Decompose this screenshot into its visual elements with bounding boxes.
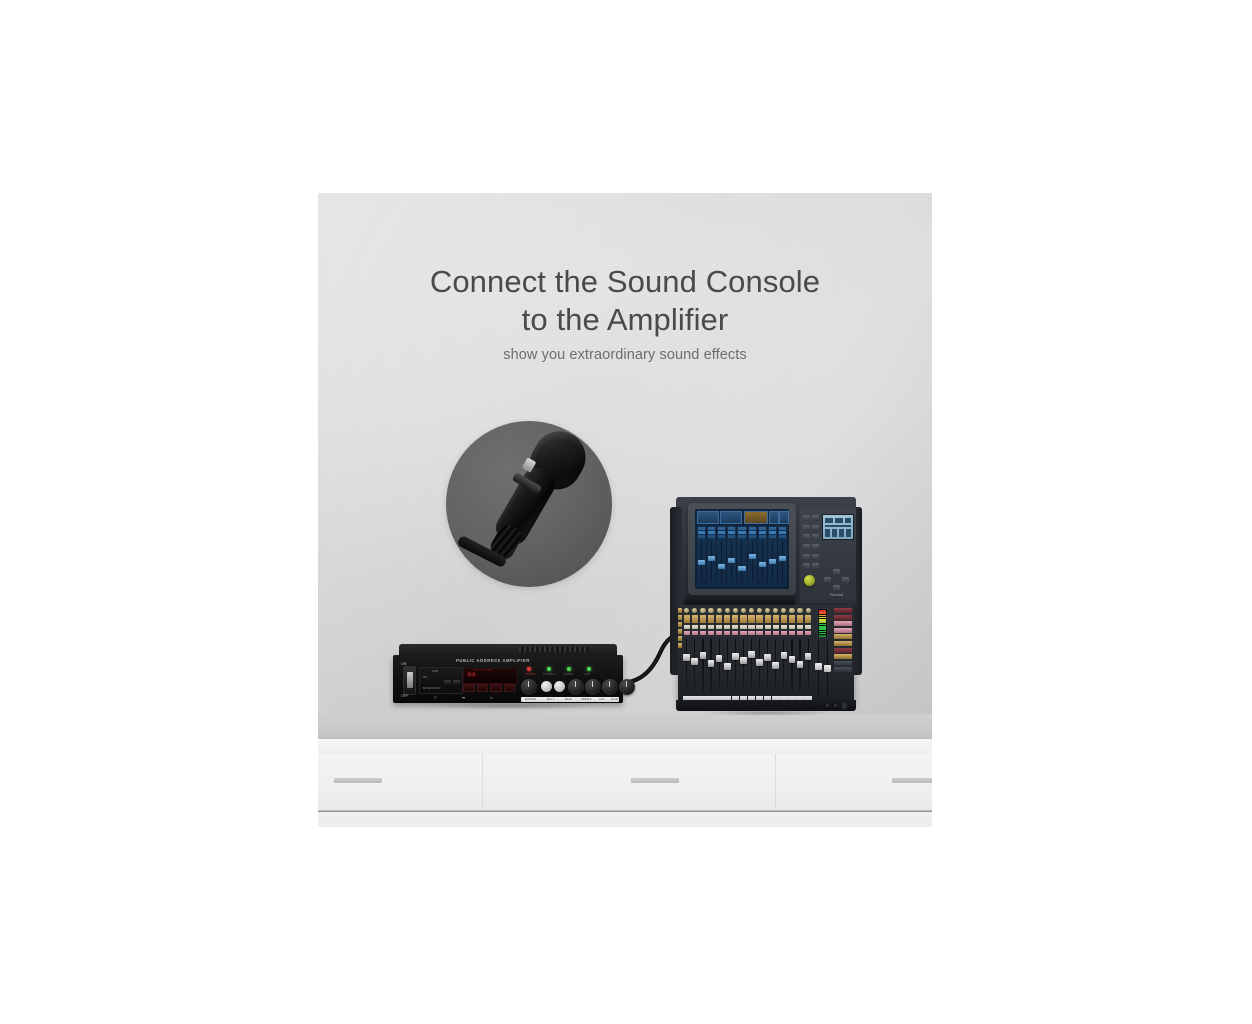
function-button[interactable] (812, 563, 819, 569)
mute-button[interactable] (708, 625, 714, 630)
usb-icon: ⬌ (459, 695, 468, 702)
solo-button[interactable] (684, 631, 690, 636)
console-lcd-display[interactable] (822, 514, 854, 540)
function-button[interactable] (803, 554, 810, 560)
gain-knob[interactable] (797, 608, 802, 613)
gain-knob[interactable] (700, 608, 705, 613)
solo-button[interactable] (773, 631, 779, 636)
channel-strip (740, 608, 748, 700)
master-fader-left[interactable] (815, 641, 822, 697)
mute-button[interactable] (740, 625, 746, 630)
solo-button[interactable] (765, 631, 771, 636)
select-button[interactable] (716, 615, 722, 623)
cursor-up-button[interactable] (833, 569, 840, 575)
module-button[interactable] (453, 680, 460, 684)
console-control-panel[interactable]: Roland (800, 507, 856, 603)
mute-button[interactable] (692, 625, 698, 630)
transport-prev-button[interactable] (463, 684, 475, 692)
channel-fader[interactable] (683, 654, 690, 661)
label-strip: MASTER MIC 1 BASS TREBLE AUX ECHO (521, 697, 619, 702)
select-button[interactable] (756, 615, 762, 623)
drawer-handle-icon[interactable] (631, 778, 679, 783)
mute-button[interactable] (773, 625, 779, 630)
docked-tablet[interactable] (688, 503, 796, 595)
bank-button[interactable] (678, 608, 682, 613)
select-button[interactable] (708, 615, 714, 623)
gain-knob[interactable] (725, 608, 730, 613)
select-button[interactable] (797, 615, 803, 623)
bluetooth-glyph: ᛗ (434, 695, 436, 700)
knob-master[interactable] (521, 679, 537, 695)
channel-strip (764, 608, 772, 700)
usb-glyph: ⬌ (462, 695, 465, 700)
gain-knob[interactable] (757, 608, 762, 613)
channel-fader[interactable] (781, 652, 788, 659)
channel-strip-area[interactable] (683, 608, 812, 700)
knob-row[interactable] (521, 679, 619, 699)
channel-strip (715, 608, 723, 700)
gain-knob[interactable] (684, 608, 689, 613)
channel-strip (723, 608, 731, 700)
channel-fader[interactable] (797, 661, 804, 668)
display-value: 00 (468, 673, 477, 678)
select-button[interactable] (732, 615, 738, 623)
knob-bass[interactable] (602, 679, 618, 695)
status-led-row: POWER PROTECT SIGNAL CLIP (525, 667, 595, 679)
digital-mixing-console[interactable]: Roland (670, 493, 862, 715)
bank-button[interactable] (678, 643, 682, 648)
select-button[interactable] (773, 615, 779, 623)
console-brand-label: Roland (820, 593, 854, 597)
solo-button[interactable] (748, 631, 754, 636)
solo-button[interactable] (797, 631, 803, 636)
gain-knob[interactable] (789, 608, 794, 613)
channel-strip (772, 608, 780, 700)
mic-jack-1[interactable] (541, 681, 552, 692)
left-button-column[interactable] (678, 608, 682, 700)
solo-button[interactable] (789, 631, 795, 636)
mute-button[interactable] (700, 625, 706, 630)
led-power (527, 667, 531, 671)
knob-mic1[interactable] (568, 679, 584, 695)
select-button[interactable] (805, 615, 811, 623)
solo-button[interactable] (708, 631, 714, 636)
led-display: MP3 PLAYER 00 (463, 668, 517, 684)
xlr-illustration (446, 421, 612, 587)
channel-strip (707, 608, 715, 700)
headline-line-1: Connect the Sound Console (318, 263, 932, 301)
drawer-left[interactable] (318, 754, 483, 811)
mute-button[interactable] (684, 625, 690, 630)
channel-strip (691, 608, 699, 700)
channel-fader[interactable] (772, 662, 779, 669)
console-fader-surface[interactable] (678, 605, 854, 703)
select-button[interactable] (700, 615, 706, 623)
channel-fader[interactable] (691, 658, 698, 665)
select-button[interactable] (789, 615, 795, 623)
channel-fader[interactable] (724, 663, 731, 670)
feature-icon-row: ᛗ ⬌ ▭ (423, 695, 513, 703)
led-clip (587, 667, 591, 671)
function-button[interactable] (812, 515, 819, 521)
channel-strip (732, 608, 740, 700)
select-button[interactable] (748, 615, 754, 623)
mute-button[interactable] (765, 625, 771, 630)
select-button[interactable] (692, 615, 698, 623)
gain-knob[interactable] (781, 608, 786, 613)
bank-button[interactable] (834, 641, 852, 646)
sd-label: SD (423, 676, 427, 679)
channel-fader[interactable] (716, 655, 723, 662)
channel-fader[interactable] (708, 660, 715, 667)
function-button[interactable] (812, 544, 819, 550)
gain-knob[interactable] (733, 608, 738, 613)
xlr-connector-inset (446, 421, 612, 587)
strip-label: ECHO (611, 698, 619, 701)
drawer-center[interactable] (483, 754, 775, 811)
bank-button[interactable] (678, 636, 682, 641)
bank-button[interactable] (834, 634, 852, 639)
function-button[interactable] (812, 554, 819, 560)
channel-fader[interactable] (764, 654, 771, 661)
function-button[interactable] (803, 525, 810, 531)
channel-fader[interactable] (748, 651, 755, 658)
headline-line-2: to the Amplifier (318, 301, 932, 339)
page-subtitle: show you extraordinary sound effects (318, 347, 932, 363)
gain-knob[interactable] (741, 608, 746, 613)
function-button-grid[interactable] (803, 515, 819, 571)
value-encoder-knob[interactable] (804, 575, 815, 586)
tablet-channel (758, 526, 767, 587)
mic-jack-2[interactable] (554, 681, 565, 692)
cursor-right-button[interactable] (842, 577, 849, 583)
channel-strip (780, 608, 788, 700)
channel-fader[interactable] (805, 653, 812, 660)
channel-strip (796, 608, 804, 700)
solo-button[interactable] (781, 631, 787, 636)
function-button[interactable] (812, 525, 819, 531)
cursor-button-cluster[interactable] (824, 569, 850, 591)
amplifier-brand-label: PUBLIC ADDRESS AMPLIFIER (433, 658, 553, 663)
select-button[interactable] (765, 615, 771, 623)
mute-button[interactable] (805, 625, 811, 630)
gain-knob[interactable] (749, 608, 754, 613)
mute-button[interactable] (756, 625, 762, 630)
function-button[interactable] (803, 534, 810, 540)
tablet-channel (748, 526, 757, 587)
front-port[interactable] (826, 704, 829, 707)
strip-label: BASS (565, 698, 572, 701)
counter-top (318, 714, 932, 741)
bank-button[interactable] (834, 667, 852, 672)
cabinet-plinth (318, 811, 932, 827)
solo-button[interactable] (740, 631, 746, 636)
tablet-channel (778, 526, 787, 587)
mute-button[interactable] (797, 625, 803, 630)
media-module-panel: USB SD BLUETOOTH (419, 667, 463, 694)
master-section[interactable] (814, 608, 832, 700)
usb-label: USB (432, 670, 438, 673)
channel-strip (804, 608, 812, 700)
bank-button[interactable] (678, 629, 682, 634)
drawer-right[interactable] (776, 754, 932, 811)
tablet-channel (768, 526, 777, 587)
tablet-channel (727, 526, 736, 587)
console-shadow (674, 709, 860, 717)
function-button[interactable] (803, 544, 810, 550)
bank-button[interactable] (834, 661, 852, 666)
tablet-channel (737, 526, 746, 587)
mute-button[interactable] (716, 625, 722, 630)
strip-label: TREBLE (581, 698, 592, 701)
channel-fader[interactable] (740, 657, 747, 664)
bank-button[interactable] (834, 648, 852, 653)
front-port[interactable] (834, 704, 837, 707)
drawer-handle-icon[interactable] (334, 778, 382, 783)
scene: Connect the Sound Console to the Amplifi… (318, 193, 932, 827)
select-button[interactable] (781, 615, 787, 623)
knob-mic2[interactable] (585, 679, 601, 695)
tablet-channel (717, 526, 726, 587)
channel-strip (748, 608, 756, 700)
master-fader-right[interactable] (824, 641, 831, 697)
bank-button[interactable] (678, 615, 682, 620)
led-clip-label: CLIP (584, 673, 590, 676)
solo-button[interactable] (700, 631, 706, 636)
console-body: Roland (670, 493, 862, 715)
cursor-down-button[interactable] (833, 585, 840, 591)
select-button[interactable] (724, 615, 730, 623)
sd-glyph: ▭ (490, 695, 494, 700)
tablet-mixer-strips[interactable] (697, 526, 787, 587)
led-protect (547, 667, 551, 671)
bluetooth-icon: ᛗ (431, 695, 440, 702)
strip-label: MIC 1 (547, 698, 554, 701)
gain-knob[interactable] (692, 608, 697, 613)
bank-button[interactable] (834, 628, 852, 633)
transport-mode-button[interactable] (504, 684, 516, 692)
channel-fader[interactable] (700, 652, 707, 659)
mute-button[interactable] (732, 625, 738, 630)
brand-text: Roland (830, 593, 843, 597)
bank-button[interactable] (834, 608, 852, 613)
mute-button[interactable] (781, 625, 787, 630)
power-off-label: OFF (401, 694, 409, 698)
solo-button[interactable] (805, 631, 811, 636)
bank-button[interactable] (834, 615, 852, 620)
page-title: Connect the Sound Console to the Amplifi… (318, 263, 932, 339)
gain-knob[interactable] (717, 608, 722, 613)
solo-button[interactable] (732, 631, 738, 636)
right-button-bank[interactable] (834, 608, 852, 700)
channel-strip (756, 608, 764, 700)
strip-label: AUX (599, 698, 605, 701)
channel-strip (788, 608, 796, 700)
led-signal (567, 667, 571, 671)
function-button[interactable] (803, 563, 810, 569)
transport-next-button[interactable] (490, 684, 502, 692)
channel-fader[interactable] (732, 653, 739, 660)
tablet-toolbar (697, 511, 787, 524)
channel-fader[interactable] (756, 659, 763, 666)
display-mode-label: MP3 PLAYER (473, 669, 492, 672)
function-button[interactable] (812, 534, 819, 540)
channel-strip (699, 608, 707, 700)
drawer-row (318, 754, 932, 810)
led-signal-label: SIGNAL (563, 673, 573, 676)
gain-knob[interactable] (765, 608, 770, 613)
gain-knob[interactable] (773, 608, 778, 613)
solo-button[interactable] (724, 631, 730, 636)
led-power-label: POWER (525, 673, 535, 676)
mute-button[interactable] (748, 625, 754, 630)
led-protect-label: PROTECT (543, 673, 556, 676)
drawer-handle-icon[interactable] (892, 778, 932, 783)
power-switch[interactable] (403, 666, 416, 695)
sd-card-icon: ▭ (487, 695, 496, 702)
strip-label: MASTER (525, 698, 536, 701)
bank-button[interactable] (834, 621, 852, 626)
mute-button[interactable] (789, 625, 795, 630)
vent-grille-icon (519, 647, 589, 652)
amplifier-front-panel: PUBLIC ADDRESS AMPLIFIER ON OFF USB SD B… (393, 655, 623, 703)
solo-button[interactable] (716, 631, 722, 636)
cabinet (318, 754, 932, 827)
level-meter (817, 608, 828, 638)
solo-button[interactable] (692, 631, 698, 636)
bank-button[interactable] (678, 622, 682, 627)
product-banner-page: Connect the Sound Console to the Amplifi… (0, 0, 1252, 1024)
mute-button[interactable] (724, 625, 730, 630)
solo-button[interactable] (756, 631, 762, 636)
channel-strip (683, 608, 691, 700)
tablet-channel (707, 526, 716, 587)
knob-treble[interactable] (619, 679, 635, 695)
channel-fader[interactable] (789, 656, 796, 663)
function-button[interactable] (803, 515, 810, 521)
gain-knob[interactable] (806, 608, 811, 613)
tablet-channel (697, 526, 706, 587)
bank-button[interactable] (834, 654, 852, 659)
transport-key-row[interactable] (463, 684, 515, 692)
select-button[interactable] (740, 615, 746, 623)
public-address-amplifier[interactable]: PUBLIC ADDRESS AMPLIFIER ON OFF USB SD B… (393, 644, 623, 707)
tablet-screen[interactable] (695, 509, 789, 589)
transport-play-button[interactable] (477, 684, 489, 692)
gain-knob[interactable] (708, 608, 713, 613)
select-button[interactable] (684, 615, 690, 623)
bluetooth-label: BLUETOOTH (423, 687, 441, 690)
cursor-left-button[interactable] (824, 577, 831, 583)
module-button[interactable] (444, 680, 451, 684)
